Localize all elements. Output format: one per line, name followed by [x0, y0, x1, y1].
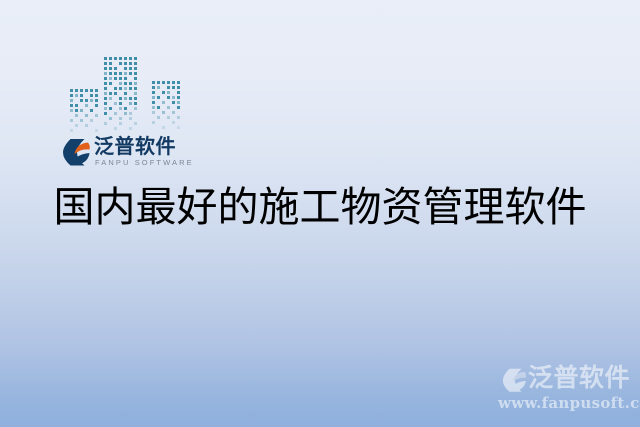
fanpu-swoosh-emblem-icon	[62, 137, 92, 167]
page-title: 国内最好的施工物资管理软件	[0, 180, 640, 234]
watermark-emblem-icon	[502, 367, 528, 393]
pixel-city-skyline-icon	[62, 52, 187, 134]
promo-banner: 泛普软件 FANPU SOFTWARE 国内最好的施工物资管理软件 泛普软件 w…	[0, 0, 640, 427]
logo-brand-cn: 泛普软件	[94, 134, 176, 158]
logo-wordmark: 泛普软件 FANPU SOFTWARE	[62, 134, 187, 174]
watermark-brand-cn: 泛普软件	[528, 362, 630, 394]
watermark-url: www.fanpusoft.com	[498, 394, 640, 412]
watermark: 泛普软件 www.fanpusoft.com	[494, 361, 634, 419]
company-logo[interactable]: 泛普软件 FANPU SOFTWARE	[62, 52, 187, 174]
logo-brand-en: FANPU SOFTWARE	[95, 158, 194, 168]
